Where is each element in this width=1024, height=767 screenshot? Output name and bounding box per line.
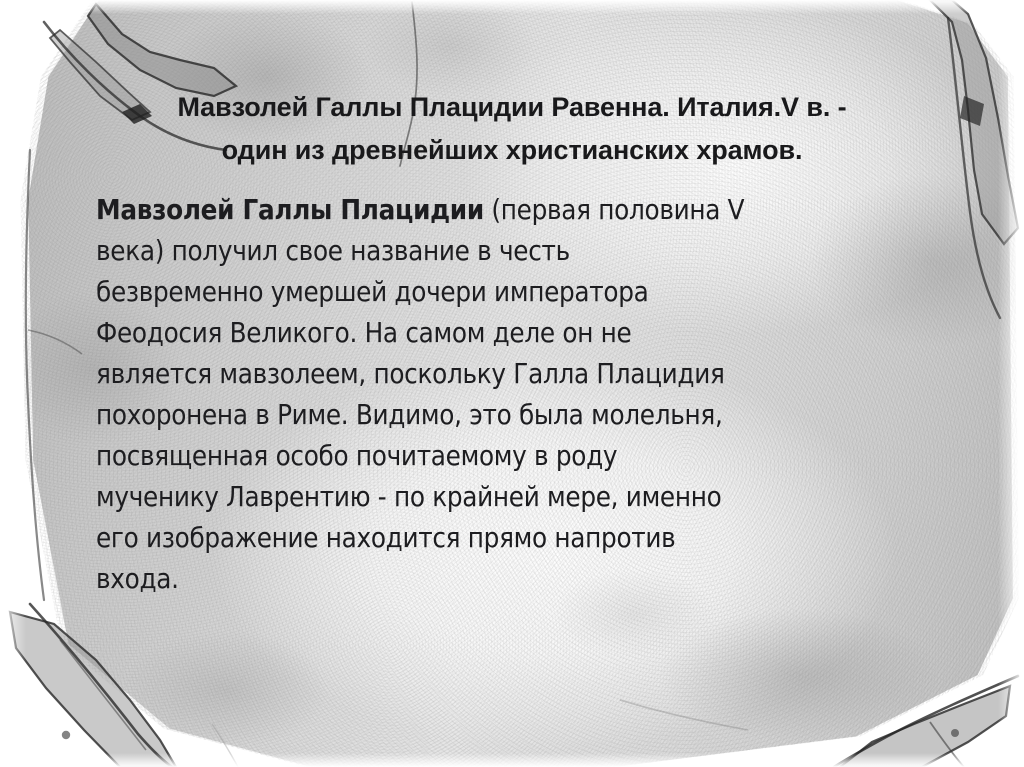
- page-title: Мавзолей Галлы Плацидии Равенна. Италия.…: [62, 86, 962, 172]
- body-line-3: безвременно умершей дочери императора: [96, 272, 976, 313]
- body-line-1-rest: (первая половина V: [484, 194, 744, 226]
- body-line-5: является мавзолеем, поскольку Галла Плац…: [96, 354, 976, 395]
- slide-canvas: Мавзолей Галлы Плацидии Равенна. Италия.…: [0, 0, 1024, 767]
- body-line-2: века) получил свое название в честь: [96, 231, 976, 272]
- body-lead-phrase: Мавзолей Галлы Плацидии: [96, 194, 484, 226]
- body-line-7: посвященная особо почитаемому в роду: [96, 436, 976, 477]
- title-line-2: один из древнейших христианских храмов.: [62, 129, 962, 172]
- body-line-6: похоронена в Риме. Видимо, это была моле…: [96, 395, 976, 436]
- body-line-9: его изображение находится прямо напротив: [96, 518, 976, 559]
- body-line-4: Феодосия Великого. На самом деле он не: [96, 313, 976, 354]
- title-line-1: Мавзолей Галлы Плацидии Равенна. Италия.…: [62, 86, 962, 129]
- body-line-8: мученику Лаврентию - по крайней мере, им…: [96, 477, 976, 518]
- body-line-1: Мавзолей Галлы Плацидии (первая половина…: [96, 190, 976, 231]
- body-paragraph: Мавзолей Галлы Плацидии (первая половина…: [96, 190, 976, 600]
- slide-content: Мавзолей Галлы Плацидии Равенна. Италия.…: [0, 0, 1024, 767]
- body-line-10: входа.: [96, 559, 976, 600]
